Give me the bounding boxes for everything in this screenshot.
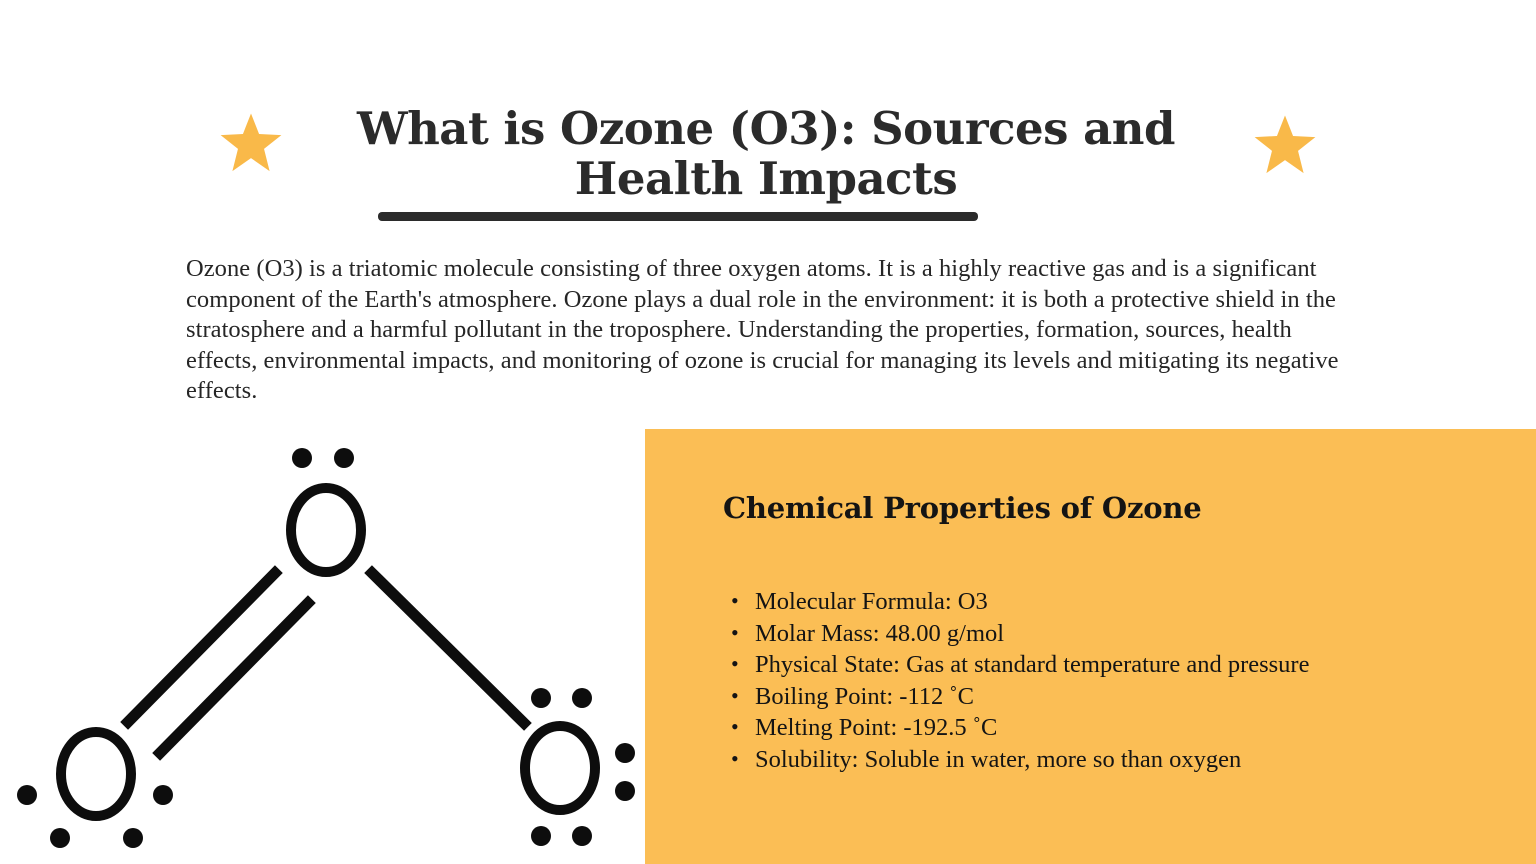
star-icon-right [1254, 114, 1316, 174]
title-row: What is Ozone (O3): Sources and Health I… [213, 104, 1323, 205]
list-item: Molecular Formula: O3 [727, 586, 1527, 618]
chemical-properties-heading: Chemical Properties of Ozone [723, 491, 1202, 525]
ozone-molecule-svg [0, 425, 645, 864]
intro-paragraph: Ozone (O3) is a triatomic molecule consi… [186, 254, 1356, 407]
title-underline-rule [378, 212, 978, 221]
list-item: Physical State: Gas at standard temperat… [727, 649, 1527, 681]
lone-pair-dot [531, 826, 551, 846]
list-item: Molar Mass: 48.00 g/mol [727, 618, 1527, 650]
lone-pair-dot [615, 743, 635, 763]
lone-pair-dot [572, 688, 592, 708]
lone-pair-dot [531, 688, 551, 708]
lone-pair-dot [17, 785, 37, 805]
atom-oxygen-center [291, 448, 361, 572]
slide-canvas: What is Ozone (O3): Sources and Health I… [0, 0, 1536, 864]
chemical-properties-list: Molecular Formula: O3 Molar Mass: 48.00 … [727, 586, 1527, 775]
lone-pair-dot [292, 448, 312, 468]
lone-pair-dot [334, 448, 354, 468]
single-bond-right [372, 573, 524, 723]
ozone-lewis-structure-diagram [0, 425, 645, 864]
lone-pair-dot [123, 828, 143, 848]
chemical-properties-panel: Chemical Properties of Ozone Molecular F… [645, 429, 1536, 864]
list-item: Solubility: Soluble in water, more so th… [727, 744, 1527, 776]
list-item: Boiling Point: -112 ˚C [727, 681, 1527, 713]
lone-pair-dot [50, 828, 70, 848]
lone-pair-dot [615, 781, 635, 801]
atom-oxygen-left [17, 732, 173, 848]
atom-oxygen-right [525, 688, 635, 846]
double-bond-left [128, 573, 308, 753]
list-item: Melting Point: -192.5 ˚C [727, 712, 1527, 744]
lone-pair-dot [572, 826, 592, 846]
star-icon-left [220, 112, 282, 172]
lone-pair-dot [153, 785, 173, 805]
page-title: What is Ozone (O3): Sources and Health I… [276, 104, 1256, 205]
